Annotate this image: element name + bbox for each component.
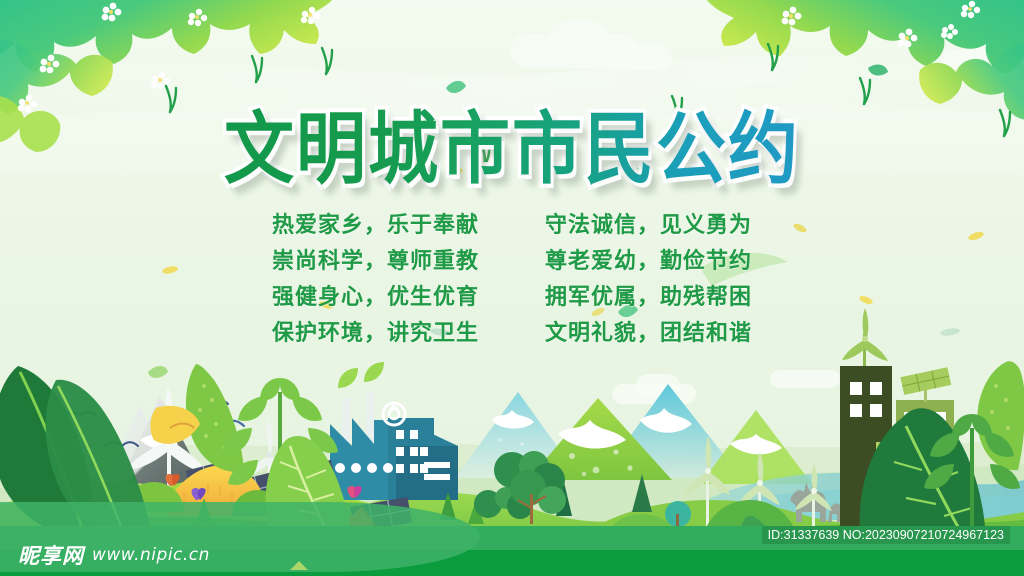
bird-icon (64, 400, 228, 446)
nipic-url: www.nipic.cn (92, 545, 210, 565)
butterfly (348, 486, 362, 498)
broadleaf-tree-cluster (474, 451, 566, 524)
creed-column-right: 守法诚信，见义勇为 尊老爱幼，勤俭节约 拥军优属，助残帮困 文明礼貌，团结和谐 (545, 212, 752, 348)
cloud-icon (548, 20, 608, 58)
fern-plant (222, 378, 338, 520)
cloud-icon (770, 370, 840, 388)
creed-line: 强健身心，优生优育 (272, 284, 479, 312)
flower-petal (150, 406, 200, 444)
poster-canvas: 文明城市市民公约 文明城市市民公约 热爱家乡，乐于奉献 崇尚科学，尊师重教 强健… (0, 0, 1024, 576)
fern-plant (924, 414, 1020, 538)
butterfly (192, 488, 206, 500)
bird-icon (200, 421, 244, 426)
deer (790, 482, 842, 522)
pine-tree (556, 482, 572, 516)
wind-turbine (685, 436, 730, 526)
blossom-icons (18, 1, 980, 112)
cloud-icon (636, 374, 680, 398)
recycle-symbol (383, 403, 405, 425)
butterfly (166, 474, 180, 486)
mountain-peak-green (528, 398, 672, 480)
mountain-peak (455, 392, 580, 478)
page-title-wrap: 文明城市市民公约 (0, 112, 1024, 188)
cloud-icon (612, 384, 696, 404)
leaf-smoke (364, 362, 384, 382)
creed-line: 守法诚信，见义勇为 (545, 212, 752, 240)
image-id-text: ID:31337639 NO:20230907210724967123 (762, 526, 1010, 544)
leaf-smoke (338, 368, 358, 388)
creed-line: 热爱家乡，乐于奉献 (272, 212, 479, 240)
mountain-peak (700, 410, 812, 484)
solar-panel (900, 367, 951, 402)
triangle-accent (290, 561, 308, 570)
building-small (876, 442, 910, 536)
watermark: 昵享网 www.nipic.cn (18, 540, 210, 570)
creed-line: 拥军优属，助残帮困 (545, 284, 752, 312)
cloud-icon (510, 34, 640, 68)
building-mid (896, 400, 954, 536)
tower-dark (840, 366, 892, 536)
mountain-range (455, 384, 812, 484)
gray-mountain (96, 396, 214, 500)
wind-turbine (739, 452, 780, 530)
pine-tree (884, 498, 900, 524)
leaf (186, 364, 244, 472)
creed-line: 崇尚科学，尊师重教 (272, 248, 479, 276)
pine-tree (468, 500, 484, 524)
solar-panel (2, 452, 59, 500)
golden-bush (876, 448, 963, 516)
page-title: 文明城市市民公约 (224, 107, 800, 192)
leaf (977, 361, 1024, 470)
wind-turbine (795, 464, 832, 534)
river (690, 473, 1024, 520)
eco-factory (330, 362, 458, 500)
cloud-icon (600, 44, 672, 70)
creed-column-left: 热爱家乡，乐于奉献 崇尚科学，尊师重教 强健身心，优生优育 保护环境，讲究卫生 (272, 212, 479, 348)
cloud-icon (962, 36, 1008, 70)
creed-line: 文明礼貌，团结和谐 (545, 320, 752, 348)
mountain-peak (600, 384, 742, 478)
pine-tree (632, 474, 652, 512)
nipic-logo: 昵享网 (18, 540, 84, 570)
creed-line: 尊老爱幼，勤俭节约 (545, 248, 752, 276)
creed-line: 保护环境，讲究卫生 (272, 320, 479, 348)
wind-turbine (126, 386, 208, 512)
cloud-icon (690, 62, 778, 84)
wind-turbine (240, 416, 296, 512)
leaf-speckles (198, 384, 226, 450)
cloud-icon (940, 50, 1024, 78)
creed-block: 热爱家乡，乐于奉献 崇尚科学，尊师重教 强健身心，优生优育 保护环境，讲究卫生 … (0, 212, 1024, 348)
